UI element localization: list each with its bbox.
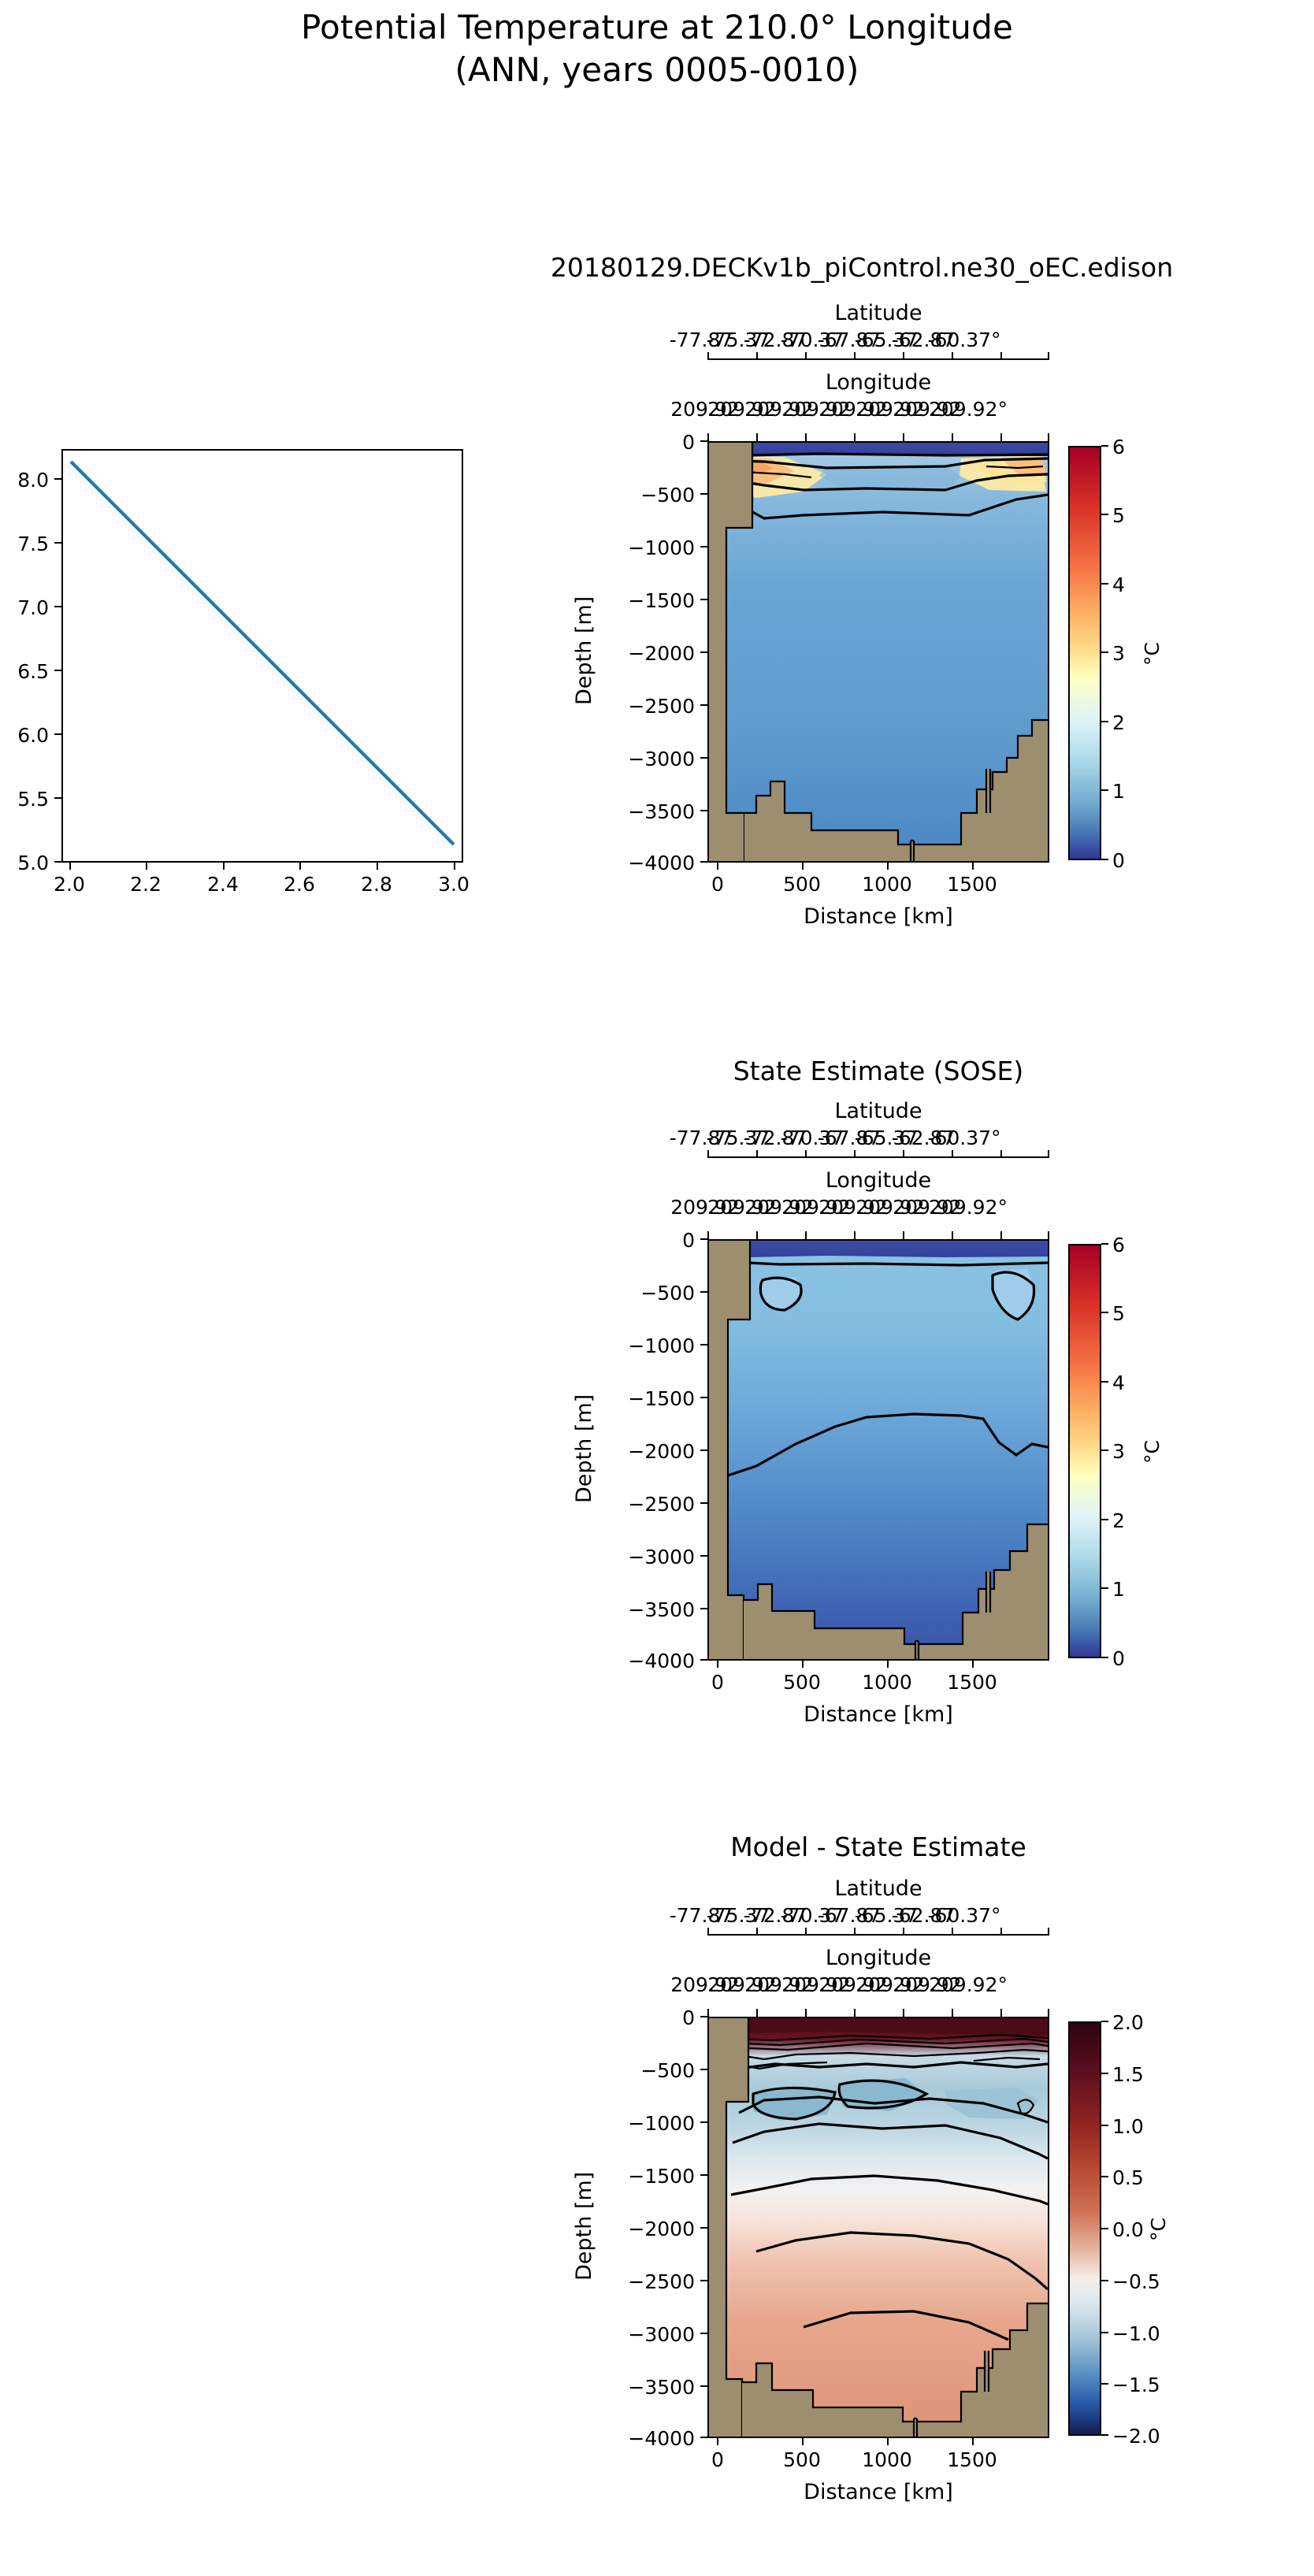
line-xtick-mark: [223, 863, 225, 870]
lon-tick-mark: [1048, 2009, 1049, 2017]
distance-tick-label: 1000: [843, 2448, 931, 2471]
line-xtick-label: 2.6: [260, 873, 339, 896]
line-xtick-mark: [454, 863, 455, 870]
depth-tick-mark: [700, 1397, 707, 1398]
latitude-tick-labels-model: -77.87 -75.37 -72.87 -70.37 -67.87 -65.3…: [646, 328, 1119, 354]
lon-tick-mark: [952, 1231, 953, 1239]
cbar-tick-label: 3: [1112, 642, 1125, 665]
lat-tick-mark: [854, 1150, 856, 1158]
lon-tick-mark: [854, 1231, 856, 1239]
panel-title-difference: Model - State Estimate: [707, 1832, 1049, 1862]
depth-tick-mark: [700, 2121, 707, 2123]
lat-tick-label: -60.37°: [905, 328, 1023, 351]
distance-axis-label-model: Distance [km]: [707, 904, 1049, 929]
colorbar-sose[interactable]: [1068, 1244, 1101, 1658]
cbar-tick-mark: [1101, 2176, 1108, 2177]
cbar-tick-label: 0.5: [1112, 2166, 1144, 2189]
lat-tick-mark: [1048, 1150, 1049, 1158]
cbar-unit-label-model: °C: [1141, 642, 1164, 666]
lat-tick-mark: [707, 1928, 709, 1936]
depth-tick-mark: [700, 1238, 707, 1240]
line-ytick-label: 5.0: [0, 852, 49, 874]
cbar-tick-label: −1.0: [1112, 2322, 1160, 2345]
distance-tick-label: 500: [763, 1671, 841, 1694]
lon-tick-mark: [756, 2009, 758, 2017]
lon-tick-mark: [903, 1231, 904, 1239]
cbar-tick-mark: [1101, 789, 1108, 791]
cbar-tick-mark: [1101, 514, 1108, 515]
depth-tick-label: −500: [583, 2059, 695, 2082]
lat-tick-mark: [707, 1150, 709, 1158]
lon-tick-mark: [805, 433, 807, 441]
lon-tick-label: 209.92°: [905, 1196, 1031, 1219]
cbar-tick-label: 3: [1112, 1440, 1125, 1463]
longitude-tick-labels-difference: 209.92 209.92 209.92 209.92 209.92 209.9…: [646, 1973, 1134, 1999]
cbar-tick-mark: [1101, 2434, 1108, 2436]
cbar-tick-mark: [1101, 2125, 1108, 2126]
cbar-tick-mark: [1101, 2383, 1108, 2385]
cbar-tick-label: 6: [1112, 436, 1125, 458]
distance-tick-mark: [717, 2438, 718, 2445]
lon-tick-mark: [952, 2009, 953, 2017]
lon-tick-mark: [854, 433, 856, 441]
depth-tick-mark: [700, 810, 707, 811]
depth-tick-label: −3500: [583, 800, 695, 823]
lon-tick-mark: [756, 1231, 758, 1239]
distance-tick-label: 500: [763, 2448, 841, 2471]
cbar-tick-mark: [1101, 721, 1108, 722]
lat-tick-mark: [854, 1928, 856, 1936]
line-xtick-label: 2.8: [337, 873, 416, 896]
distance-tick-label: 500: [763, 873, 841, 896]
lon-tick-mark: [903, 2009, 904, 2017]
depth-tick-mark: [700, 599, 707, 600]
depth-tick-label: −1500: [583, 1387, 695, 1410]
distance-tick-mark: [802, 863, 804, 870]
distance-axis-label-difference: Distance [km]: [707, 2480, 1049, 2504]
lon-tick-mark: [1048, 433, 1049, 441]
lon-tick-mark: [756, 433, 758, 441]
depth-tick-label: 0: [583, 2006, 695, 2029]
panel-title-sose: State Estimate (SOSE): [707, 1056, 1049, 1086]
cbar-tick-label: 1: [1112, 780, 1125, 803]
cbar-tick-label: 1: [1112, 1578, 1125, 1601]
depth-tick-label: −3000: [583, 748, 695, 770]
line-plot-axes[interactable]: [61, 449, 463, 863]
depth-tick-mark: [700, 493, 707, 495]
depth-tick-label: −1000: [583, 2112, 695, 2135]
distance-tick-mark: [717, 1661, 718, 1668]
section-field-sose: [709, 1241, 1048, 1659]
lat-tick-mark: [756, 352, 758, 360]
section-field-difference: [709, 2018, 1048, 2437]
depth-tick-mark: [700, 440, 707, 442]
cbar-tick-mark: [1101, 2073, 1108, 2074]
lat-tick-mark: [1000, 1928, 1002, 1936]
line-ytick-label: 7.5: [0, 533, 49, 555]
longitude-axis-label-sose: Longitude: [707, 1168, 1049, 1193]
distance-tick-mark: [887, 2438, 889, 2445]
cbar-tick-label: 0: [1112, 849, 1125, 872]
lat-tick-mark: [805, 1150, 807, 1158]
depth-tick-mark: [700, 2016, 707, 2017]
latitude-spine-difference: [707, 1934, 1049, 1936]
cbar-tick-label: 2: [1112, 1509, 1125, 1532]
cbar-unit-label-difference: °C: [1147, 2218, 1170, 2241]
lon-tick-mark: [1000, 433, 1002, 441]
line-ytick-mark: [54, 542, 61, 544]
longitude-tick-labels-model: 209.92 209.92 209.92 209.92 209.92 209.9…: [646, 398, 1134, 423]
latitude-spine-sose: [707, 1156, 1049, 1158]
cbar-tick-label: −0.5: [1112, 2270, 1160, 2293]
cbar-tick-mark: [1101, 583, 1108, 585]
cbar-tick-label: 2.0: [1112, 2011, 1144, 2034]
panel-title-model: 20180129.DECKv1b_piControl.ne30_oEC.edis…: [410, 252, 1314, 283]
lat-tick-mark: [903, 1928, 904, 1936]
cbar-tick-mark: [1101, 859, 1108, 860]
depth-tick-label: −3500: [583, 1598, 695, 1621]
colorbar-difference[interactable]: [1068, 2021, 1101, 2436]
cbar-tick-label: 2: [1112, 711, 1125, 734]
lon-tick-mark: [707, 1231, 709, 1239]
depth-tick-mark: [700, 757, 707, 759]
cbar-tick-label: 5: [1112, 504, 1125, 527]
figure-suptitle: Potential Temperature at 210.0° Longitud…: [0, 6, 1314, 91]
latitude-tick-labels-difference: -77.87 -75.37 -72.87 -70.37 -67.87 -65.3…: [646, 1904, 1119, 1929]
lon-tick-mark: [1000, 1231, 1002, 1239]
depth-tick-mark: [700, 2385, 707, 2387]
longitude-axis-label-difference: Longitude: [707, 1946, 1049, 1970]
line-xtick-label: 2.4: [184, 873, 262, 896]
depth-tick-mark: [700, 2437, 707, 2438]
cbar-tick-mark: [1101, 1519, 1108, 1520]
lon-tick-mark: [707, 433, 709, 441]
depth-tick-mark: [700, 1291, 707, 1293]
depth-tick-label: −1000: [583, 1334, 695, 1357]
lon-tick-mark: [854, 2009, 856, 2017]
depth-tick-mark: [700, 651, 707, 653]
lat-tick-mark: [854, 352, 856, 360]
depth-tick-label: −500: [583, 484, 695, 507]
depth-tick-label: −3000: [583, 2323, 695, 2346]
cbar-tick-mark: [1101, 1587, 1108, 1589]
cbar-unit-label-sose: °C: [1141, 1440, 1164, 1464]
lon-tick-mark: [952, 433, 953, 441]
line-ytick-mark: [54, 606, 61, 607]
lat-tick-mark: [1048, 1928, 1049, 1936]
lon-tick-mark: [707, 2009, 709, 2017]
lat-tick-mark: [952, 1928, 953, 1936]
line-xtick-label: 2.0: [30, 873, 109, 896]
line-xtick-mark: [299, 863, 301, 870]
line-ytick-mark: [54, 733, 61, 735]
depth-tick-label: −2000: [583, 642, 695, 665]
line-ytick-mark: [54, 797, 61, 799]
cbar-tick-label: 5: [1112, 1302, 1125, 1325]
line-ytick-label: 5.5: [0, 788, 49, 811]
depth-axis-label-model: Depth [m]: [572, 596, 596, 705]
depth-tick-label: −2500: [583, 695, 695, 718]
lat-tick-mark: [756, 1928, 758, 1936]
line-xtick-label: 3.0: [414, 873, 493, 896]
cbar-tick-mark: [1101, 2280, 1108, 2281]
depth-tick-label: −1000: [583, 536, 695, 559]
latitude-axis-label-difference: Latitude: [707, 1876, 1049, 1901]
depth-tick-label: 0: [583, 431, 695, 454]
depth-tick-mark: [700, 1659, 707, 1661]
lon-tick-mark: [1000, 2009, 1002, 2017]
lat-tick-label: -60.37°: [905, 1127, 1023, 1149]
cbar-tick-label: 4: [1112, 573, 1125, 596]
lon-tick-mark: [805, 1231, 807, 1239]
lat-tick-mark: [952, 352, 953, 360]
depth-tick-mark: [700, 1502, 707, 1504]
cbar-tick-mark: [1101, 651, 1108, 653]
section-axes-sose[interactable]: [707, 1239, 1049, 1661]
depth-tick-label: −1500: [583, 2165, 695, 2188]
cbar-tick-label: 0: [1112, 1647, 1125, 1670]
line-xtick-mark: [146, 863, 147, 870]
depth-tick-label: −2000: [583, 1440, 695, 1463]
cbar-tick-label: 6: [1112, 1234, 1125, 1256]
cbar-tick-mark: [1101, 1312, 1108, 1313]
cbar-tick-label: 1.0: [1112, 2115, 1144, 2138]
cbar-tick-label: 1.5: [1112, 2063, 1144, 2086]
lat-tick-mark: [952, 1150, 953, 1158]
distance-tick-label: 1500: [928, 2448, 1016, 2471]
cbar-tick-mark: [1101, 1449, 1108, 1451]
distance-tick-mark: [972, 2438, 974, 2445]
depth-tick-label: −2000: [583, 2218, 695, 2240]
line-xtick-label: 2.2: [106, 873, 185, 896]
cbar-tick-label: 0.0: [1112, 2218, 1144, 2241]
depth-tick-label: −4000: [583, 2427, 695, 2450]
lon-tick-mark: [903, 433, 904, 441]
cbar-tick-label: −2.0: [1112, 2425, 1160, 2448]
cbar-tick-mark: [1101, 445, 1108, 447]
distance-tick-mark: [972, 863, 974, 870]
line-series-1: [71, 462, 454, 844]
distance-axis-label-sose: Distance [km]: [707, 1702, 1049, 1727]
line-plot-canvas: [63, 451, 462, 861]
depth-tick-label: −4000: [583, 1650, 695, 1672]
distance-tick-label: 1500: [928, 1671, 1016, 1694]
depth-tick-mark: [700, 2069, 707, 2070]
depth-tick-mark: [700, 1449, 707, 1451]
distance-tick-label: 1000: [843, 1671, 931, 1694]
lat-tick-mark: [805, 352, 807, 360]
distance-tick-mark: [802, 1661, 804, 1668]
cbar-tick-mark: [1101, 2228, 1108, 2229]
distance-tick-label: 1000: [843, 873, 931, 896]
lat-tick-label: -60.37°: [905, 1904, 1023, 1927]
line-ytick-mark: [54, 861, 61, 863]
lat-tick-mark: [1048, 352, 1049, 360]
line-ytick-label: 7.0: [0, 596, 49, 619]
latitude-axis-label-model: Latitude: [707, 301, 1049, 325]
depth-tick-mark: [700, 861, 707, 863]
depth-tick-mark: [700, 2333, 707, 2334]
suptitle-line-2: (ANN, years 0005-0010): [0, 49, 1314, 91]
depth-tick-mark: [700, 546, 707, 547]
line-xtick-mark: [69, 863, 71, 870]
depth-tick-label: −500: [583, 1282, 695, 1305]
lon-tick-label: 209.92°: [905, 398, 1031, 421]
cbar-tick-label: 4: [1112, 1372, 1125, 1394]
cbar-tick-label: −1.5: [1112, 2374, 1160, 2396]
cbar-tick-mark: [1101, 2332, 1108, 2333]
depth-tick-mark: [700, 2280, 707, 2281]
distance-tick-mark: [717, 863, 718, 870]
section-axes-difference[interactable]: [707, 2017, 1049, 2438]
lon-tick-mark: [1048, 1231, 1049, 1239]
depth-tick-label: −2500: [583, 1493, 695, 1516]
line-ytick-mark: [54, 670, 61, 671]
distance-tick-mark: [972, 1661, 974, 1668]
lat-tick-mark: [707, 352, 709, 360]
depth-tick-label: 0: [583, 1229, 695, 1252]
line-ytick-label: 6.5: [0, 660, 49, 683]
latitude-axis-label-sose: Latitude: [707, 1099, 1049, 1123]
lat-tick-mark: [1000, 352, 1002, 360]
depth-tick-mark: [700, 704, 707, 706]
suptitle-line-1: Potential Temperature at 210.0° Longitud…: [0, 6, 1314, 49]
longitude-tick-labels-sose: 209.92 209.92 209.92 209.92 209.92 209.9…: [646, 1196, 1134, 1221]
distance-tick-mark: [802, 2438, 804, 2445]
depth-tick-mark: [700, 2174, 707, 2176]
distance-tick-label: 1500: [928, 873, 1016, 896]
section-field-model: [709, 443, 1048, 861]
lat-tick-mark: [756, 1150, 758, 1158]
depth-tick-mark: [700, 1608, 707, 1609]
latitude-spine-model: [707, 358, 1049, 360]
cbar-tick-mark: [1101, 2021, 1108, 2022]
lat-tick-mark: [903, 1150, 904, 1158]
colorbar-model[interactable]: [1068, 446, 1101, 860]
line-ytick-label: 6.0: [0, 724, 49, 747]
depth-tick-label: −1500: [583, 589, 695, 612]
latitude-tick-labels-sose: -77.87 -75.37 -72.87 -70.37 -67.87 -65.3…: [646, 1127, 1119, 1152]
line-ytick-label: 8.0: [0, 469, 49, 492]
depth-tick-label: −4000: [583, 852, 695, 874]
lon-tick-mark: [805, 2009, 807, 2017]
depth-tick-label: −3500: [583, 2376, 695, 2399]
depth-tick-mark: [700, 2227, 707, 2229]
cbar-tick-mark: [1101, 1243, 1108, 1245]
depth-tick-label: −3000: [583, 1546, 695, 1568]
depth-tick-label: −2500: [583, 2270, 695, 2293]
lat-tick-mark: [903, 352, 904, 360]
distance-tick-mark: [887, 1661, 889, 1668]
depth-tick-mark: [700, 1555, 707, 1557]
distance-tick-label: 0: [678, 2448, 757, 2471]
line-xtick-mark: [377, 863, 378, 870]
distance-tick-label: 0: [678, 1671, 757, 1694]
section-axes-model[interactable]: [707, 441, 1049, 863]
lat-tick-mark: [1000, 1150, 1002, 1158]
line-ytick-mark: [54, 478, 61, 480]
cbar-tick-mark: [1101, 1381, 1108, 1383]
depth-axis-label-sose: Depth [m]: [572, 1394, 596, 1503]
lon-tick-label: 209.92°: [905, 1973, 1031, 1996]
depth-tick-mark: [700, 1344, 707, 1346]
distance-tick-mark: [887, 863, 889, 870]
longitude-axis-label-model: Longitude: [707, 370, 1049, 395]
depth-axis-label-difference: Depth [m]: [572, 2172, 596, 2281]
distance-tick-label: 0: [678, 873, 757, 896]
cbar-tick-mark: [1101, 1657, 1108, 1658]
lat-tick-mark: [805, 1928, 807, 1936]
